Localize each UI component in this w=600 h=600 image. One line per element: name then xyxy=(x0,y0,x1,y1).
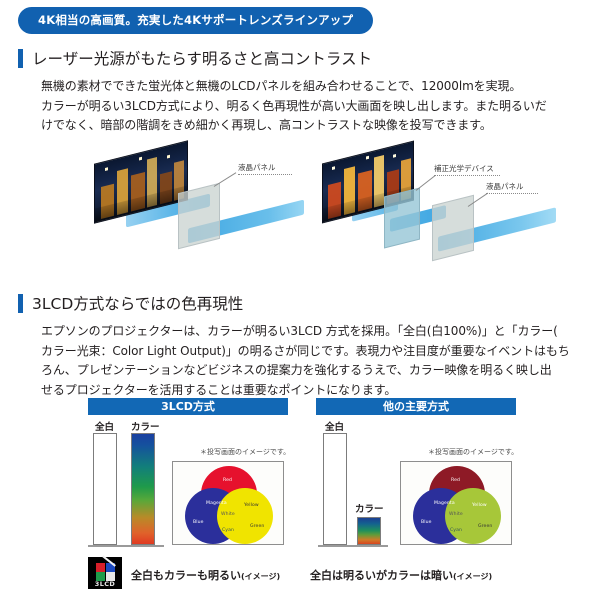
venn-label-red: Red xyxy=(451,478,460,483)
bar-label-all-white: 全白 xyxy=(95,419,114,433)
venn-label-yellow: Yellow xyxy=(244,503,259,508)
lcd-panel-glass xyxy=(178,183,220,249)
chart-title-other: 他の主要方式 xyxy=(316,398,516,415)
venn-label-white: White xyxy=(449,512,463,517)
top-badge: 4K相当の高画質。充実した4Kサポートレンズラインアップ xyxy=(18,7,373,34)
section-heading-color: 3LCD方式ならではの色再現性 xyxy=(18,292,243,314)
chart-baseline xyxy=(318,545,388,547)
heading-accent-bar xyxy=(18,294,23,313)
section-body-laser: 無機の素材でできた蛍光体と無機のLCDパネルを組み合わせることで、12000lm… xyxy=(41,77,571,136)
correction-optics-panel xyxy=(384,188,420,249)
caption-3lcd-suffix: (イメージ) xyxy=(241,572,280,581)
leader-line-lcd-dotted xyxy=(486,193,538,194)
venn-label-cyan: Cyan xyxy=(450,528,462,533)
caption-other: 全白は明るいがカラーは暗い(イメージ) xyxy=(310,567,492,583)
leader-line xyxy=(214,172,237,187)
bar-color xyxy=(357,517,381,545)
leader-line-correction-dotted xyxy=(434,175,500,176)
caption-other-suffix: (イメージ) xyxy=(453,572,492,581)
lcd-panel-label: 液晶パネル xyxy=(486,181,524,192)
body-line: 無機の素材でできた蛍光体と無機のLCDパネルを組み合わせることで、12000lm… xyxy=(41,77,571,97)
venn-label-blue: Blue xyxy=(193,520,204,525)
body-line: けでなく、暗部の階調をきめ細かく再現し、高コントラストな映像を投写できます。 xyxy=(41,116,571,136)
bar-color xyxy=(131,433,155,545)
brochure-page: 4K相当の高画質。充実した4Kサポートレンズラインアップ レーザー光源がもたらす… xyxy=(0,0,600,600)
leader-line-dotted xyxy=(238,174,292,175)
venn-label-blue: Blue xyxy=(421,520,432,525)
chart-note: ＊投写画面のイメージです。 xyxy=(428,447,518,457)
section-title-text: 3LCD方式ならではの色再現性 xyxy=(32,292,243,314)
venn-label-yellow: Yellow xyxy=(472,503,487,508)
venn-label-white: White xyxy=(221,512,235,517)
venn-label-green: Green xyxy=(478,524,492,529)
venn-diagram-bright: Red Magenta Yellow White Blue Cyan Green xyxy=(173,462,283,544)
logo-text: 3LCD xyxy=(89,580,121,588)
section-heading-laser: レーザー光源がもたらす明るさと高コントラスト xyxy=(18,47,372,69)
heading-accent-bar xyxy=(18,49,23,68)
caption-other-main: 全白は明るいがカラーは暗い xyxy=(310,569,453,582)
venn-label-cyan: Cyan xyxy=(222,528,234,533)
bar-label-color: カラー xyxy=(131,419,160,433)
venn-label-magenta: Magenta xyxy=(206,501,227,506)
bar-label-color: カラー xyxy=(355,501,384,515)
chart-title-3lcd: 3LCD方式 xyxy=(88,398,288,415)
caption-3lcd: 全白もカラーも明るい(イメージ) xyxy=(131,567,280,583)
leader-line-correction xyxy=(416,175,436,191)
venn-label-red: Red xyxy=(223,478,232,483)
lcd-panel-label: 液晶パネル xyxy=(238,162,276,173)
logo-3lcd: 3LCD xyxy=(88,557,122,589)
venn-diagram-dim: Red Magenta Yellow White Blue Cyan Green xyxy=(401,462,511,544)
bar-all-white xyxy=(93,433,117,545)
body-line: エプソンのプロジェクターは、カラーが明るい3LCD 方式を採用。「全白(白100… xyxy=(41,322,579,342)
body-line: カラー光束：Color Light Output)」の明るさが同じです。表現力や… xyxy=(41,342,579,362)
venn-label-green: Green xyxy=(250,524,264,529)
venn-label-magenta: Magenta xyxy=(434,501,455,506)
section-body-color: エプソンのプロジェクターは、カラーが明るい3LCD 方式を採用。「全白(白100… xyxy=(41,322,579,400)
bar-all-white xyxy=(323,433,347,545)
venn-frame-other: Red Magenta Yellow White Blue Cyan Green xyxy=(400,461,512,545)
logo-square-red xyxy=(96,563,105,572)
chart-note: ＊投写画面のイメージです。 xyxy=(200,447,290,457)
body-line: ろん、プレゼンテーションなどビジネスの提案力を強化するうえで、カラー映像を明るく… xyxy=(41,361,579,381)
venn-frame-3lcd: Red Magenta Yellow White Blue Cyan Green xyxy=(172,461,284,545)
diagram-3lcd-corrected: 補正光学デバイス 液晶パネル xyxy=(322,148,572,268)
body-line: カラーが明るい3LCD方式により、明るく色再現性が高い大画面を映し出します。また… xyxy=(41,97,571,117)
chart-baseline xyxy=(88,545,164,547)
bar-label-all-white: 全白 xyxy=(325,419,344,433)
diagram-conventional: 液晶パネル xyxy=(92,148,302,268)
correction-optics-label: 補正光学デバイス xyxy=(434,163,494,174)
caption-3lcd-main: 全白もカラーも明るい xyxy=(131,569,241,582)
section-title-text: レーザー光源がもたらす明るさと高コントラスト xyxy=(32,47,372,69)
